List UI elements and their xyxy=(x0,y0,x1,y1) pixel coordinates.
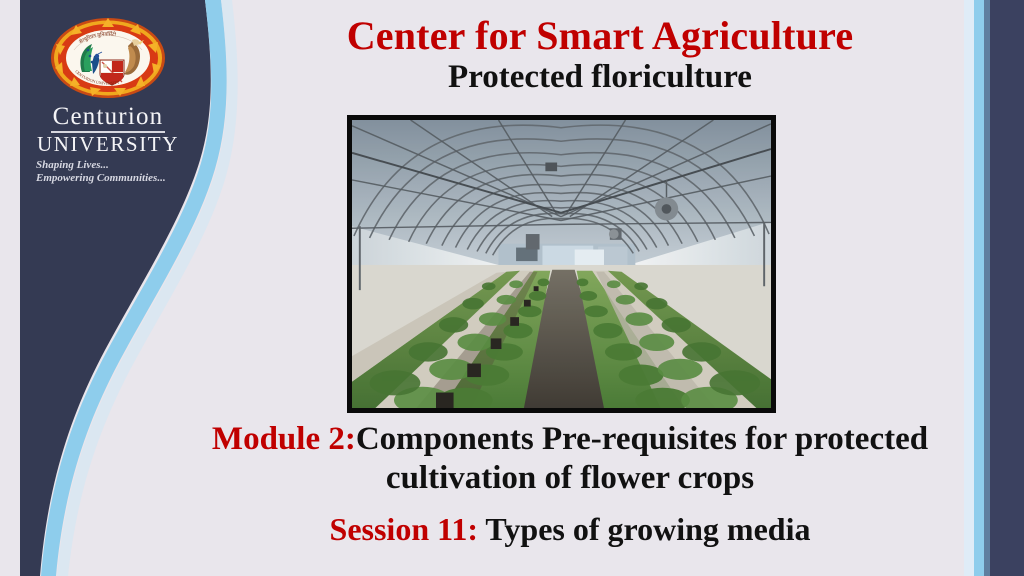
brand-tagline-line-1: Shaping Lives... xyxy=(36,159,188,173)
brand-name-line-2: UNIVERSITY xyxy=(28,133,188,155)
greenhouse-interior-photo xyxy=(352,120,771,408)
slide-footer: Module 2:Components Pre-requisites for p… xyxy=(175,420,965,548)
centurion-university-emblem-icon: सेन्चुरियन युनिवर्सिटी xyxy=(48,16,168,100)
brand-tagline: Shaping Lives... Empowering Communities.… xyxy=(28,159,188,187)
page-title: Center for Smart Agriculture xyxy=(230,14,970,57)
session-text: Types of growing media xyxy=(478,511,810,547)
module-label: Module 2: xyxy=(212,421,356,457)
greenhouse-photo-frame xyxy=(347,115,776,413)
session-line: Session 11: Types of growing media xyxy=(175,510,965,548)
module-text: Components Pre-requisites for protected … xyxy=(356,421,928,496)
page-subtitle: Protected floriculture xyxy=(230,59,970,96)
brand-tagline-line-2: Empowering Communities... xyxy=(36,172,188,186)
slide-header: Center for Smart Agriculture Protected f… xyxy=(230,14,970,96)
presentation-slide: सेन्चुरियन युनिवर्सिटी xyxy=(0,0,1024,576)
right-decorative-band xyxy=(964,0,1024,576)
university-logo-block: सेन्चुरियन युनिवर्सिटी xyxy=(28,16,188,186)
module-line: Module 2:Components Pre-requisites for p… xyxy=(175,420,965,498)
session-label: Session 11: xyxy=(330,511,478,547)
brand-name-line-1: Centurion xyxy=(51,104,166,133)
